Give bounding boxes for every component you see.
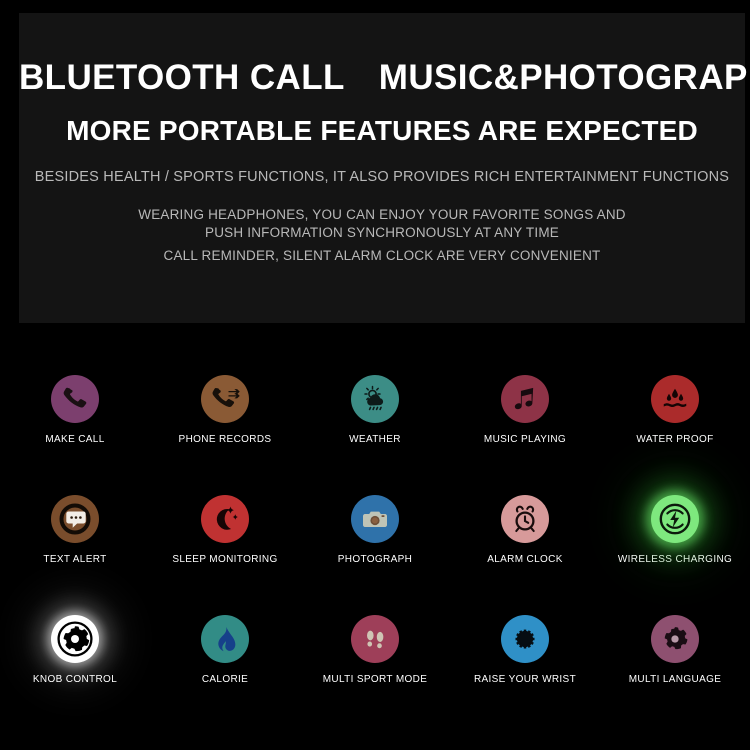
feature-grid: MAKE CALL PHONE RECORDS — [0, 355, 750, 715]
feature-label: RAISE YOUR WRIST — [474, 674, 576, 685]
gear-knob-icon-badge — [51, 615, 99, 663]
flame-icon — [210, 624, 240, 654]
wireless-charging-icon — [657, 501, 693, 537]
feature-label: PHONE RECORDS — [179, 434, 272, 445]
feature-item-water-proof[interactable]: WATER PROOF — [600, 355, 750, 475]
speech-bubble-icon — [58, 502, 92, 536]
alarm-clock-icon-badge — [501, 495, 549, 543]
headline: BLUETOOTH CALLMUSIC&PHOTOGRAPH — [19, 60, 745, 95]
feature-item-photograph[interactable]: PHOTOGRAPH — [300, 475, 450, 595]
weather-icon-badge — [351, 375, 399, 423]
feature-label: ALARM CLOCK — [487, 554, 563, 565]
music-note-icon-badge — [501, 375, 549, 423]
feature-row: KNOB CONTROL CALORIE — [0, 595, 750, 715]
feature-label: MAKE CALL — [45, 434, 104, 445]
alarm-clock-icon — [509, 503, 541, 535]
gear-icon — [658, 622, 692, 656]
feature-item-wireless-charging[interactable]: WIRELESS CHARGING — [600, 475, 750, 595]
feature-label: MUSIC PLAYING — [484, 434, 566, 445]
moon-stars-icon-badge — [201, 495, 249, 543]
phone-records-icon — [210, 384, 240, 414]
blurb-block-2: WEARING HEADPHONES, YOU CAN ENJOY YOUR F… — [19, 206, 745, 242]
gear-knob-icon — [55, 619, 95, 659]
feature-row: MAKE CALL PHONE RECORDS — [0, 355, 750, 475]
feature-showcase-page: BLUETOOTH CALLMUSIC&PHOTOGRAPH MORE PORT… — [0, 0, 750, 750]
feature-item-weather[interactable]: WEATHER — [300, 355, 450, 475]
feature-label: WATER PROOF — [636, 434, 713, 445]
feature-item-music-playing[interactable]: MUSIC PLAYING — [450, 355, 600, 475]
flame-icon-badge — [201, 615, 249, 663]
feature-item-make-call[interactable]: MAKE CALL — [0, 355, 150, 475]
feature-item-phone-records[interactable]: PHONE RECORDS — [150, 355, 300, 475]
feature-label: WEATHER — [349, 434, 401, 445]
feature-item-sleep-monitoring[interactable]: SLEEP MONITORING — [150, 475, 300, 595]
feature-label: MULTI SPORT MODE — [323, 674, 428, 685]
feature-label: KNOB CONTROL — [33, 674, 117, 685]
feature-row: TEXT ALERT SLEEP MONITORING — [0, 475, 750, 595]
water-drop-icon-badge — [651, 375, 699, 423]
feature-item-alarm-clock[interactable]: ALARM CLOCK — [450, 475, 600, 595]
sun-rays-ring-icon — [505, 619, 545, 659]
feature-label: SLEEP MONITORING — [172, 554, 277, 565]
feature-label: MULTI LANGUAGE — [629, 674, 722, 685]
camera-icon — [359, 503, 391, 535]
music-note-icon — [511, 385, 539, 413]
gear-icon-badge — [651, 615, 699, 663]
headline-left: BLUETOOTH CALL — [19, 60, 345, 95]
footprints-icon — [360, 624, 390, 654]
blurb-line-2a: WEARING HEADPHONES, YOU CAN ENJOY YOUR F… — [19, 206, 745, 224]
headline-right: MUSIC&PHOTOGRAPH — [379, 60, 750, 95]
feature-item-multi-sport-mode[interactable]: MULTI SPORT MODE — [300, 595, 450, 715]
feature-item-knob-control[interactable]: KNOB CONTROL — [0, 595, 150, 715]
weather-icon — [359, 383, 391, 415]
phone-records-icon-badge — [201, 375, 249, 423]
moon-stars-icon — [209, 503, 241, 535]
blurb-line-1: BESIDES HEALTH / SPORTS FUNCTIONS, IT AL… — [19, 168, 745, 188]
header-panel: BLUETOOTH CALLMUSIC&PHOTOGRAPH MORE PORT… — [19, 13, 745, 323]
water-drop-icon — [660, 384, 690, 414]
feature-label: PHOTOGRAPH — [338, 554, 412, 565]
feature-label: CALORIE — [202, 674, 248, 685]
wireless-charging-icon-badge — [651, 495, 699, 543]
blurb-line-3: CALL REMINDER, SILENT ALARM CLOCK ARE VE… — [19, 247, 745, 265]
feature-item-calorie[interactable]: CALORIE — [150, 595, 300, 715]
camera-icon-badge — [351, 495, 399, 543]
feature-label: TEXT ALERT — [43, 554, 106, 565]
subheadline: MORE PORTABLE FEATURES ARE EXPECTED — [19, 117, 745, 145]
phone-icon-badge — [51, 375, 99, 423]
blurb-line-2b: PUSH INFORMATION SYNCHRONOUSLY AT ANY TI… — [19, 224, 745, 242]
feature-item-text-alert[interactable]: TEXT ALERT — [0, 475, 150, 595]
feature-item-raise-your-wrist[interactable]: RAISE YOUR WRIST — [450, 595, 600, 715]
sun-rays-ring-icon-badge — [501, 615, 549, 663]
speech-bubble-icon-badge — [51, 495, 99, 543]
feature-item-multi-language[interactable]: MULTI LANGUAGE — [600, 595, 750, 715]
footprints-icon-badge — [351, 615, 399, 663]
feature-label: WIRELESS CHARGING — [618, 554, 732, 565]
phone-icon — [60, 384, 90, 414]
